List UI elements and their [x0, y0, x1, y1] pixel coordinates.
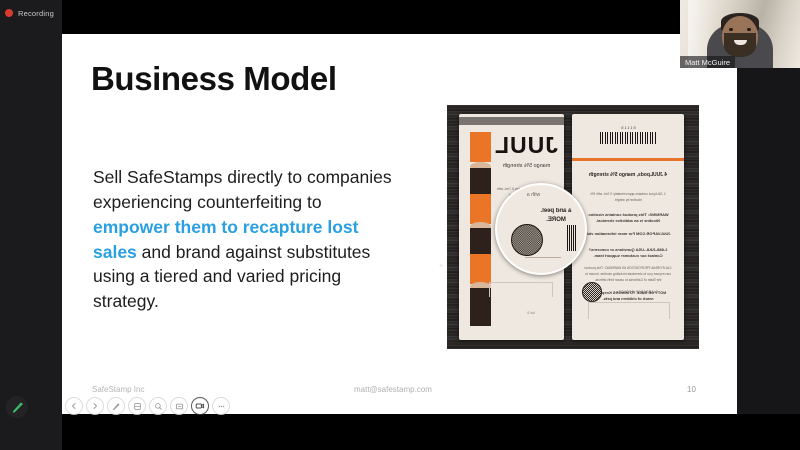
- notes-button[interactable]: [170, 397, 188, 415]
- annotate-pen-button[interactable]: [6, 396, 28, 418]
- pen-icon: [112, 402, 121, 411]
- loupe-barcode: [567, 225, 577, 251]
- body-text-part1: Sell SafeStamps directly to companies ex…: [93, 167, 392, 212]
- loupe-text-top: with a: [527, 192, 581, 198]
- magnifier-loupe: with a a and peel. MORE.: [495, 183, 587, 275]
- presentation-slide: Business Model Sell SafeStamps directly …: [62, 34, 737, 414]
- pack-back-orange-rule: [572, 158, 684, 161]
- webcam-video-tile[interactable]: Matt McGuire: [680, 0, 800, 68]
- previous-slide-button[interactable]: [65, 397, 83, 415]
- slide-body-text: Sell SafeStamps directly to companies ex…: [93, 165, 398, 314]
- pack-back-paragraph: CALIFORNIA PROPOSITION 65 WARNING: This …: [584, 266, 672, 284]
- bottom-letterbox: [62, 414, 800, 450]
- recording-label: Recording: [18, 9, 54, 18]
- warning-bar: [459, 117, 564, 125]
- presentation-toolbar: [63, 397, 232, 415]
- webcam-person-eye: [729, 28, 733, 31]
- photo-anchor-marker: +: [439, 265, 443, 269]
- annotate-pen-button[interactable]: [107, 397, 125, 415]
- footer-page-number: 10: [687, 385, 696, 394]
- color-swatch-strip: [470, 132, 491, 326]
- footer-email: matt@safestamp.com: [354, 385, 432, 394]
- chevron-left-icon: [70, 402, 78, 410]
- slide-grid-button[interactable]: [128, 397, 146, 415]
- notes-icon: [175, 402, 184, 411]
- juul-wordmark: JUUL: [503, 132, 558, 158]
- juul-pack-back: 51115 4 JUULpods, mango 5% strength 1 JU…: [572, 114, 684, 340]
- right-letterbox: [737, 34, 800, 414]
- grid-icon: [133, 402, 142, 411]
- participant-name-label: Matt McGuire: [680, 56, 735, 68]
- pen-icon: [11, 401, 24, 414]
- pack-back-code-number: 0 1234567 890123: [606, 290, 670, 294]
- screen-share-window: Recording Business Model Sell SafeStamps…: [0, 0, 800, 450]
- zoom-button[interactable]: [149, 397, 167, 415]
- footer-company: SafeStamp Inc: [92, 385, 144, 394]
- left-sidebar: Recording: [0, 0, 62, 450]
- more-options-button[interactable]: [212, 397, 230, 415]
- chevron-right-icon: [91, 402, 99, 410]
- pack-back-title: 4 JUULpods, mango 5% strength: [586, 172, 670, 180]
- magnifier-icon: [154, 402, 163, 411]
- recording-indicator: Recording: [5, 5, 54, 21]
- loupe-flap-line: [525, 257, 561, 266]
- safestamp-stamp-icon: [582, 282, 602, 302]
- pack-front-subtitle: mango 5% strength: [495, 162, 558, 171]
- ellipsis-icon: [217, 402, 226, 411]
- page-title: Business Model: [91, 62, 337, 95]
- pack-back-barcode: [600, 132, 656, 144]
- webcam-person-beard: [724, 33, 756, 57]
- next-slide-button[interactable]: [86, 397, 104, 415]
- pack-front-flap: [489, 282, 553, 297]
- pack-front-lot: lot 5: [511, 310, 551, 315]
- pack-back-paragraph: WARNING: This product contains nicotine.…: [584, 212, 672, 225]
- camera-button[interactable]: [191, 397, 209, 415]
- pack-back-paragraph: 1 JUULpod contains approximately 0.7mL w…: [584, 192, 672, 204]
- product-photo: JUUL mango 5% strength 4 JUULpods pod co…: [447, 105, 699, 349]
- loupe-text-mid: a and peel. MORE.: [531, 207, 581, 224]
- pack-back-flap: [588, 302, 670, 319]
- webcam-person-eye: [747, 28, 751, 31]
- video-camera-icon: [195, 401, 205, 411]
- safestamp-security-stamp-icon: [511, 224, 543, 256]
- pack-back-paragraph: 1-888-JUUL-USA Questions or concerns? Co…: [584, 247, 672, 260]
- pack-back-barcode-number: 51115: [600, 125, 656, 130]
- pack-back-paragraph: JUULVAPOR.COM For more information visit: [584, 231, 672, 237]
- recording-dot-icon: [5, 9, 13, 17]
